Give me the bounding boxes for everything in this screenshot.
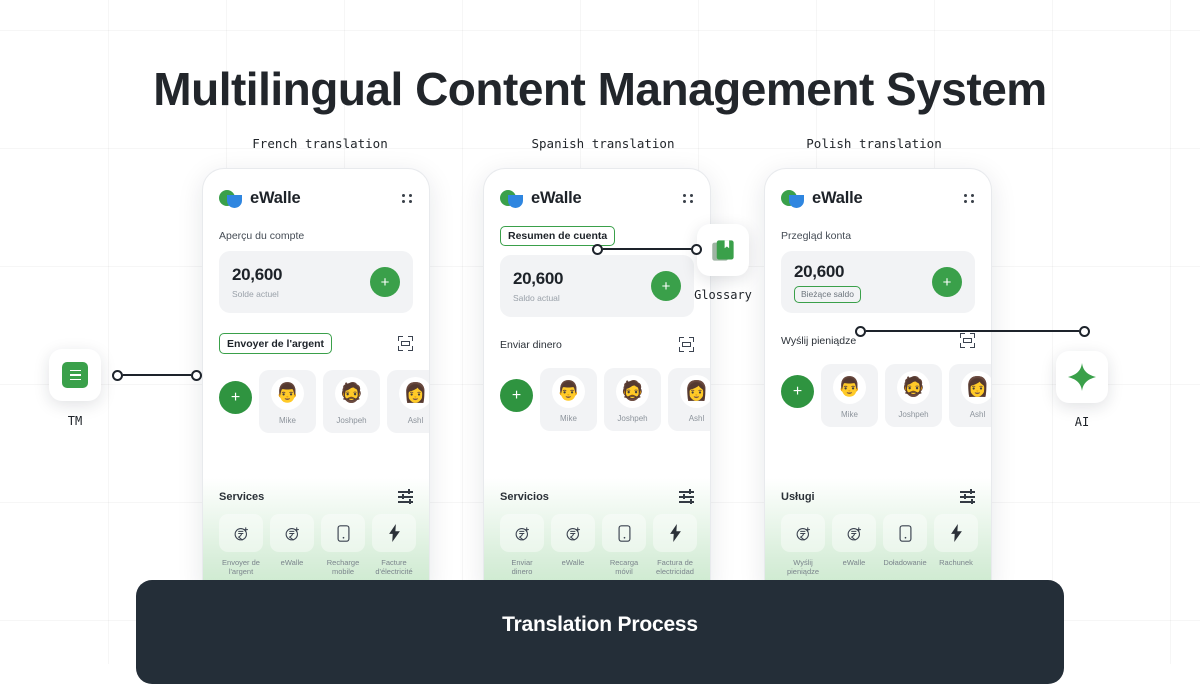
brand-name: eWalle	[250, 189, 300, 208]
contact-name: Mike	[540, 414, 597, 423]
mobile-recharge-icon	[883, 514, 927, 552]
balance-caption: Bieżące saldo	[794, 286, 861, 303]
service-label: Recharge mobile	[321, 558, 365, 577]
add-contact-button[interactable]: +	[781, 375, 814, 408]
service-item[interactable]: Envoyer de l'argent	[219, 514, 263, 577]
service-label: Recarga móvil	[602, 558, 646, 577]
avatar: 👩	[399, 377, 430, 410]
ai-badge[interactable]	[1056, 351, 1108, 403]
lightning-bill-icon	[934, 514, 978, 552]
contact-name: Joshpeh	[323, 416, 380, 425]
services-title: Servicios	[500, 491, 549, 503]
list-item[interactable]: 👨 Mike	[540, 368, 597, 431]
list-item[interactable]: 👨 Mike	[259, 370, 316, 433]
lightning-bill-icon	[653, 514, 697, 552]
ewalle-logo	[219, 190, 243, 208]
add-contact-button[interactable]: +	[500, 379, 533, 412]
service-label: Enviar dinero	[500, 558, 544, 577]
service-label: eWalle	[270, 558, 314, 567]
connector-polish-to-ai	[855, 325, 1090, 337]
contacts-row: + 👨 Mike 🧔 Joshpeh 👩 Ashl	[781, 364, 975, 427]
service-label: Facture d'électricité	[372, 558, 416, 577]
service-label: Doładowanie	[883, 558, 927, 567]
avatar: 🧔	[897, 371, 930, 404]
send-money-row: Envoyer de l'argent	[219, 333, 413, 354]
service-item[interactable]: eWalle	[832, 514, 876, 577]
service-item[interactable]: Rachunek	[934, 514, 978, 577]
connector-tm-to-french	[112, 369, 202, 381]
avatar: 👨	[833, 371, 866, 404]
sliders-icon[interactable]	[960, 490, 975, 503]
list-item[interactable]: 👩 Ashl	[949, 364, 992, 427]
book-icon	[710, 237, 737, 264]
sliders-icon[interactable]	[398, 490, 413, 503]
translation-memory-badge[interactable]	[49, 349, 101, 401]
glossary-badge[interactable]	[697, 224, 749, 276]
list-item[interactable]: 👩 Ashl	[387, 370, 430, 433]
list-item[interactable]: 🧔 Joshpeh	[323, 370, 380, 433]
balance-caption: Saldo actual	[513, 293, 563, 303]
app-header: eWalle	[219, 169, 413, 208]
rupee-wallet-icon	[551, 514, 595, 552]
ai-caption: AI	[1022, 415, 1142, 429]
contact-name: Ashl	[668, 414, 711, 423]
balance-card: 20,600 Solde actuel +	[219, 251, 413, 313]
rupee-send-icon	[219, 514, 263, 552]
contact-name: Mike	[821, 410, 878, 419]
service-item[interactable]: Wyślij pieniądze	[781, 514, 825, 577]
brand-name: eWalle	[812, 189, 862, 208]
phone-mockup-polish: eWalle Przegląd konta 20,600 Bieżące sal…	[764, 168, 992, 588]
send-money-label: Wyślij pieniądze	[781, 335, 856, 347]
service-item[interactable]: Doładowanie	[883, 514, 927, 577]
balance-amount: 20,600	[232, 265, 282, 285]
add-money-button[interactable]: +	[370, 267, 400, 297]
account-overview-label: Przegląd konta	[781, 230, 975, 242]
service-label: Rachunek	[934, 558, 978, 567]
grip-dots-icon[interactable]	[402, 194, 413, 203]
lightning-bill-icon	[372, 514, 416, 552]
footer-banner-text: Translation Process	[502, 613, 698, 637]
translation-memory-caption: TM	[15, 414, 135, 428]
send-money-row: Enviar dinero	[500, 337, 694, 352]
avatar: 🧔	[616, 375, 649, 408]
service-label: eWalle	[832, 558, 876, 567]
glossary-caption: Glossary	[663, 288, 783, 302]
balance-card: 20,600 Bieżące saldo +	[781, 251, 975, 313]
services-section: Usługi Wyślij pieniądze eWalle	[765, 478, 991, 588]
contact-name: Joshpeh	[885, 410, 942, 419]
avatar: 🧔	[335, 377, 368, 410]
avatar: 👩	[680, 375, 711, 408]
footer-banner: Translation Process	[136, 580, 1064, 684]
services-title: Usługi	[781, 491, 815, 503]
service-item[interactable]: eWalle	[551, 514, 595, 577]
ewalle-logo	[500, 190, 524, 208]
rupee-send-icon	[781, 514, 825, 552]
avatar: 👨	[271, 377, 304, 410]
send-money-label: Envoyer de l'argent	[219, 333, 332, 354]
add-money-button[interactable]: +	[932, 267, 962, 297]
contact-name: Ashl	[387, 416, 430, 425]
column-label-french: French translation	[190, 136, 450, 151]
app-header: eWalle	[781, 169, 975, 208]
balance-amount: 20,600	[794, 262, 861, 282]
scan-icon[interactable]	[398, 336, 413, 351]
ewalle-logo	[781, 190, 805, 208]
mobile-recharge-icon	[321, 514, 365, 552]
contact-name: Joshpeh	[604, 414, 661, 423]
phone-mockup-french: eWalle Aperçu du compte 20,600 Solde act…	[202, 168, 430, 588]
service-item[interactable]: Recharge mobile	[321, 514, 365, 577]
service-label: Wyślij pieniądze	[781, 558, 825, 577]
scan-icon[interactable]	[679, 337, 694, 352]
list-item[interactable]: 🧔 Joshpeh	[885, 364, 942, 427]
page-title: Multilingual Content Management System	[0, 62, 1200, 116]
balance-caption: Solde actuel	[232, 289, 282, 299]
translation-memory-icon	[62, 362, 88, 388]
contact-name: Mike	[259, 416, 316, 425]
balance-amount: 20,600	[513, 269, 563, 289]
avatar: 👨	[552, 375, 585, 408]
column-label-spanish: Spanish translation	[473, 136, 733, 151]
contacts-row: + 👨 Mike 🧔 Joshpeh 👩 Ashl	[219, 370, 413, 433]
rupee-wallet-icon	[832, 514, 876, 552]
rupee-wallet-icon	[270, 514, 314, 552]
service-item[interactable]: Factura de electricidad	[653, 514, 697, 577]
add-contact-button[interactable]: +	[219, 381, 252, 414]
services-title: Services	[219, 491, 264, 503]
grip-dots-icon[interactable]	[964, 194, 975, 203]
rupee-send-icon	[500, 514, 544, 552]
service-label: eWalle	[551, 558, 595, 567]
services-section: Services Envoyer de l'argent eWalle	[203, 478, 429, 588]
mobile-recharge-icon	[602, 514, 646, 552]
service-label: Envoyer de l'argent	[219, 558, 263, 577]
phone-mockup-spanish: eWalle Resumen de cuenta 20,600 Saldo ac…	[483, 168, 711, 588]
service-item[interactable]: Facture d'électricité	[372, 514, 416, 577]
contacts-row: + 👨 Mike 🧔 Joshpeh 👩 Ashl	[500, 368, 694, 431]
service-item[interactable]: Recarga móvil	[602, 514, 646, 577]
account-overview-label: Aperçu du compte	[219, 230, 413, 242]
brand-name: eWalle	[531, 189, 581, 208]
sparkle-icon	[1066, 361, 1098, 393]
connector-spanish-to-glossary	[592, 243, 702, 255]
service-item[interactable]: eWalle	[270, 514, 314, 577]
app-header: eWalle	[500, 169, 694, 208]
sliders-icon[interactable]	[679, 490, 694, 503]
balance-card: 20,600 Saldo actual +	[500, 255, 694, 317]
contact-name: Ashl	[949, 410, 992, 419]
send-money-label: Enviar dinero	[500, 339, 562, 351]
service-label: Factura de electricidad	[653, 558, 697, 577]
list-item[interactable]: 👩 Ashl	[668, 368, 711, 431]
grip-dots-icon[interactable]	[683, 194, 694, 203]
column-label-polish: Polish translation	[744, 136, 1004, 151]
list-item[interactable]: 🧔 Joshpeh	[604, 368, 661, 431]
service-item[interactable]: Enviar dinero	[500, 514, 544, 577]
avatar: 👩	[961, 371, 992, 404]
services-section: Servicios Enviar dinero eWalle	[484, 478, 710, 588]
list-item[interactable]: 👨 Mike	[821, 364, 878, 427]
